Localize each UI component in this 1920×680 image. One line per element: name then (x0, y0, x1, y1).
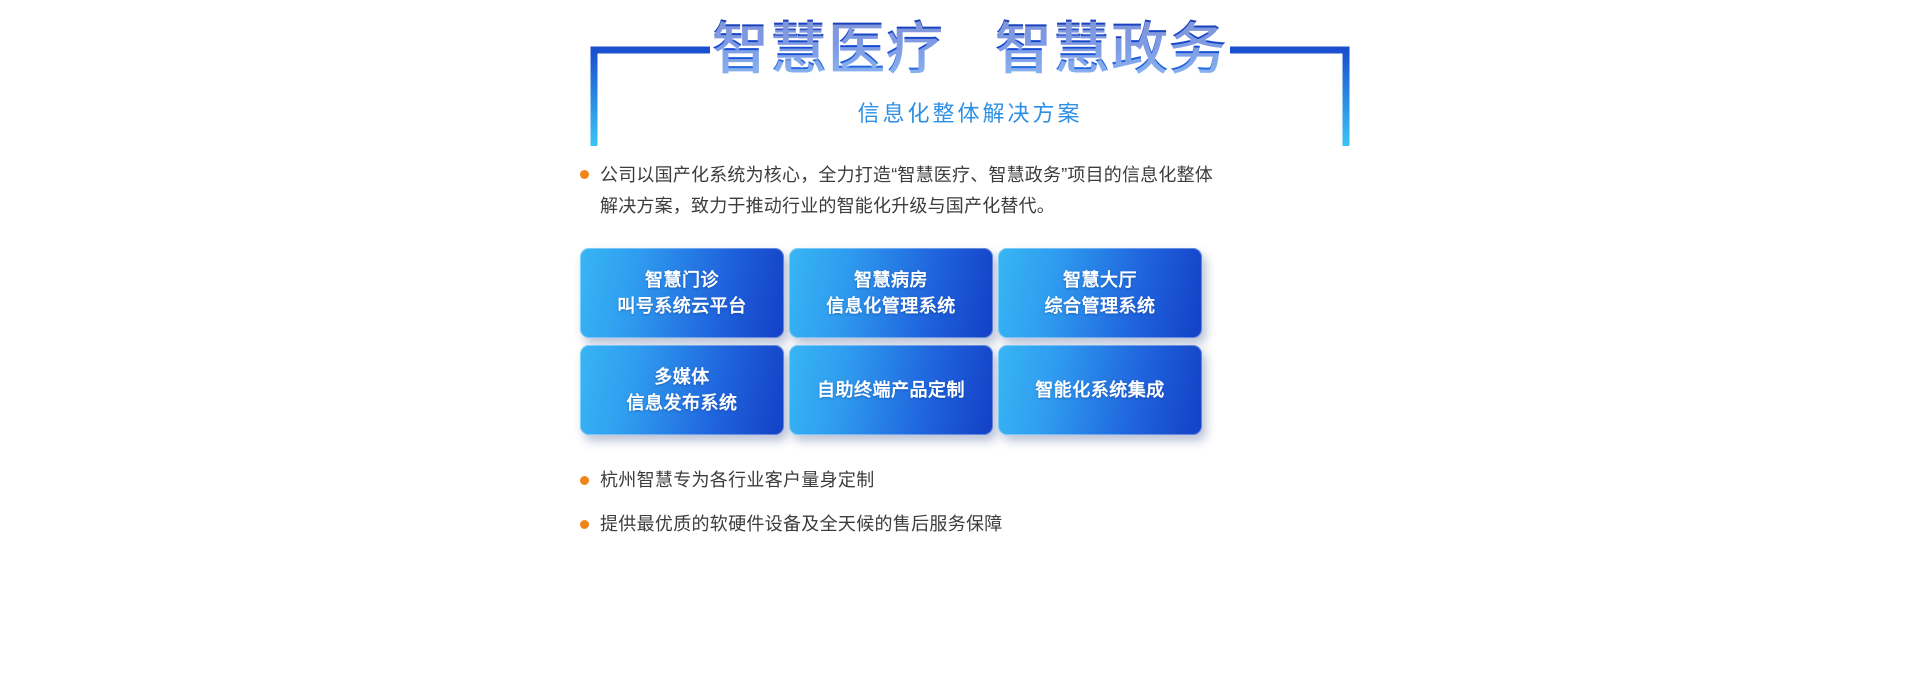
bullet-icon (580, 520, 589, 529)
notes-list: 杭州智慧专为各行业客户量身定制 提供最优质的软硬件设备及全天候的售后服务保障 (580, 468, 1280, 556)
solution-card-label: 自助终端产品定制 (817, 377, 965, 403)
intro-text: 公司以国产化系统为核心，全力打造“智慧医疗、智慧政务”项目的信息化整体解决方案，… (600, 160, 1220, 222)
list-item: 提供最优质的软硬件设备及全天候的售后服务保障 (580, 512, 1280, 537)
note-text: 杭州智慧专为各行业客户量身定制 (600, 468, 875, 493)
solution-card-label: 智慧大厅 综合管理系统 (1045, 267, 1156, 319)
solution-card[interactable]: 多媒体 信息发布系统 (580, 345, 784, 435)
solution-card[interactable]: 智慧门诊 叫号系统云平台 (580, 248, 784, 338)
solution-card[interactable]: 自助终端产品定制 (789, 345, 993, 435)
intro-paragraph: 公司以国产化系统为核心，全力打造“智慧医疗、智慧政务”项目的信息化整体解决方案，… (580, 160, 1360, 222)
solution-card[interactable]: 智慧大厅 综合管理系统 (998, 248, 1202, 338)
bullet-icon (580, 476, 589, 485)
solution-card[interactable]: 智慧病房 信息化管理系统 (789, 248, 993, 338)
header-block: 智慧医疗 智慧政务 信息化整体解决方案 (580, 0, 1360, 170)
solution-card[interactable]: 智能化系统集成 (998, 345, 1202, 435)
list-item: 杭州智慧专为各行业客户量身定制 (580, 468, 1280, 493)
banner-root: 智慧医疗 智慧政务 信息化整体解决方案 公司以国产化系统为核心，全力打造“智慧医… (0, 0, 1920, 680)
content-column: 智慧医疗 智慧政务 信息化整体解决方案 公司以国产化系统为核心，全力打造“智慧医… (580, 0, 1360, 680)
solution-card-label: 智慧病房 信息化管理系统 (826, 267, 956, 319)
solution-card-grid: 智慧门诊 叫号系统云平台 智慧病房 信息化管理系统 智慧大厅 综合管理系统 多媒… (580, 248, 1220, 435)
note-text: 提供最优质的软硬件设备及全天候的售后服务保障 (600, 512, 1003, 537)
title-part-medical: 智慧医疗 (713, 18, 945, 81)
page-subtitle: 信息化整体解决方案 (843, 96, 1096, 128)
page-title: 智慧医疗 智慧政务 (580, 18, 1360, 81)
title-part-government: 智慧政务 (995, 18, 1227, 81)
subtitle-row: 信息化整体解决方案 (580, 96, 1360, 128)
solution-card-label: 多媒体 信息发布系统 (627, 364, 738, 416)
solution-card-label: 智慧门诊 叫号系统云平台 (617, 267, 747, 319)
bullet-icon (580, 170, 589, 179)
solution-card-label: 智能化系统集成 (1035, 377, 1165, 403)
